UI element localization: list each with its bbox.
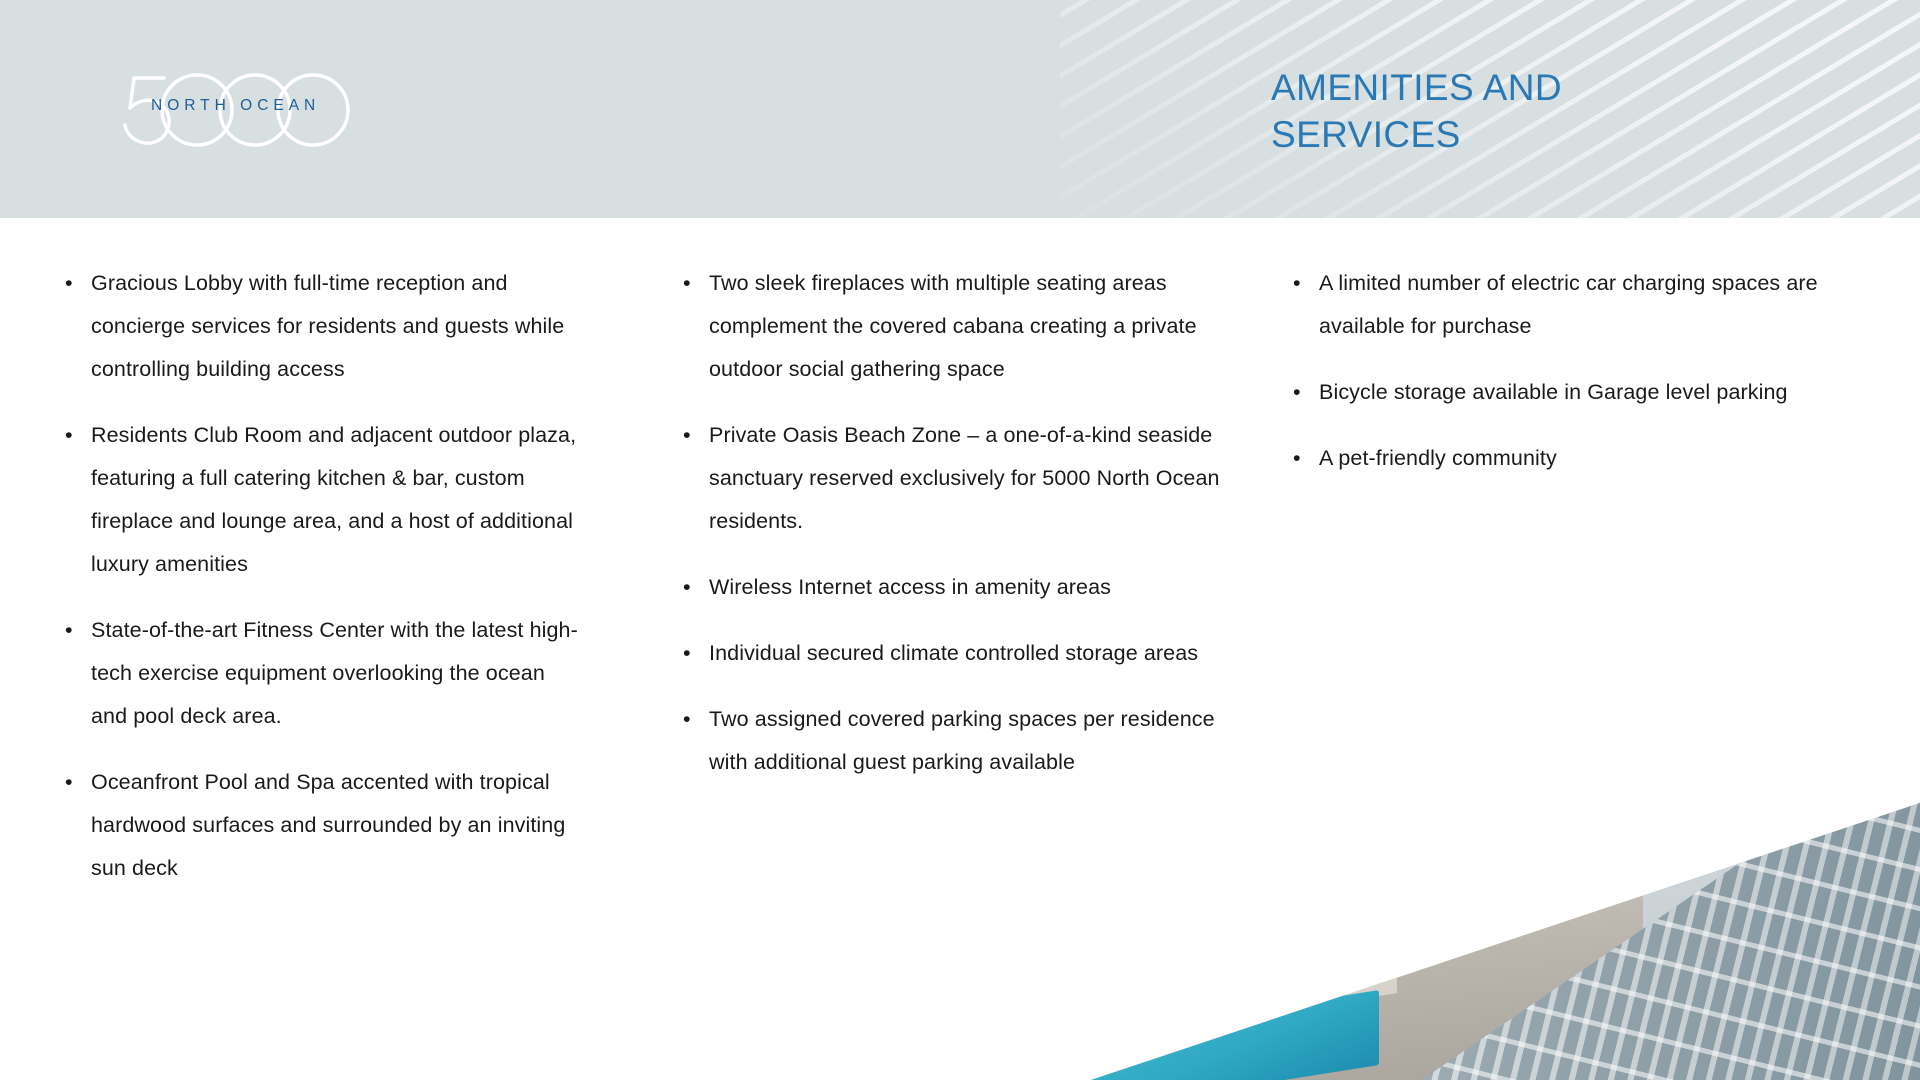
bullet-icon: • — [65, 414, 73, 457]
logo: NORTH OCEAN — [104, 66, 374, 150]
list-item: • Individual secured climate controlled … — [680, 632, 1240, 675]
list-item-text: Wireless Internet access in amenity area… — [709, 575, 1111, 599]
logo-wordmark: NORTH OCEAN — [151, 97, 320, 115]
list-item: • Residents Club Room and adjacent outdo… — [62, 414, 582, 586]
list-item: • State-of-the-art Fitness Center with t… — [62, 609, 582, 738]
list-item-text: Bicycle storage available in Garage leve… — [1319, 380, 1788, 404]
list-item-text: State-of-the-art Fitness Center with the… — [91, 618, 578, 728]
bullet-icon: • — [1293, 371, 1301, 414]
list-item: • Two sleek fireplaces with multiple sea… — [680, 262, 1240, 391]
bullet-icon: • — [65, 761, 73, 804]
bullet-column-2: • Two sleek fireplaces with multiple sea… — [680, 262, 1240, 784]
bullet-icon: • — [683, 262, 691, 305]
bullet-icon: • — [683, 698, 691, 741]
list-item: • Two assigned covered parking spaces pe… — [680, 698, 1240, 784]
bullet-column-3: • A limited number of electric car charg… — [1290, 262, 1850, 480]
list-item: • Bicycle storage available in Garage le… — [1290, 371, 1850, 414]
list-item-text: Two sleek fireplaces with multiple seati… — [709, 271, 1197, 381]
list-item-text: Two assigned covered parking spaces per … — [709, 707, 1215, 774]
bullet-icon: • — [65, 609, 73, 652]
bullet-icon: • — [65, 262, 73, 305]
list-item-text: Residents Club Room and adjacent outdoor… — [91, 423, 576, 576]
list-item: • Gracious Lobby with full-time receptio… — [62, 262, 582, 391]
list-item: • Wireless Internet access in amenity ar… — [680, 566, 1240, 609]
list-item: • A pet-friendly community — [1290, 437, 1850, 480]
bullet-icon: • — [683, 566, 691, 609]
bullet-icon: • — [683, 632, 691, 675]
bullet-icon: • — [1293, 437, 1301, 480]
list-item: • Oceanfront Pool and Spa accented with … — [62, 761, 582, 890]
bullet-icon: • — [683, 414, 691, 457]
list-item-text: A limited number of electric car chargin… — [1319, 271, 1818, 338]
list-item-text: Individual secured climate controlled st… — [709, 641, 1198, 665]
list-item-text: Private Oasis Beach Zone – a one-of-a-ki… — [709, 423, 1220, 533]
list-item: • A limited number of electric car charg… — [1290, 262, 1850, 348]
header-band: NORTH OCEAN AMENITIES AND SERVICES — [0, 0, 1920, 218]
bullet-icon: • — [1293, 262, 1301, 305]
list-item-text: A pet-friendly community — [1319, 446, 1557, 470]
bullet-column-1: • Gracious Lobby with full-time receptio… — [62, 262, 582, 890]
list-item: • Private Oasis Beach Zone – a one-of-a-… — [680, 414, 1240, 543]
list-item-text: Gracious Lobby with full-time reception … — [91, 271, 564, 381]
list-item-text: Oceanfront Pool and Spa accented with tr… — [91, 770, 565, 880]
page-title: AMENITIES AND SERVICES — [1271, 64, 1562, 158]
